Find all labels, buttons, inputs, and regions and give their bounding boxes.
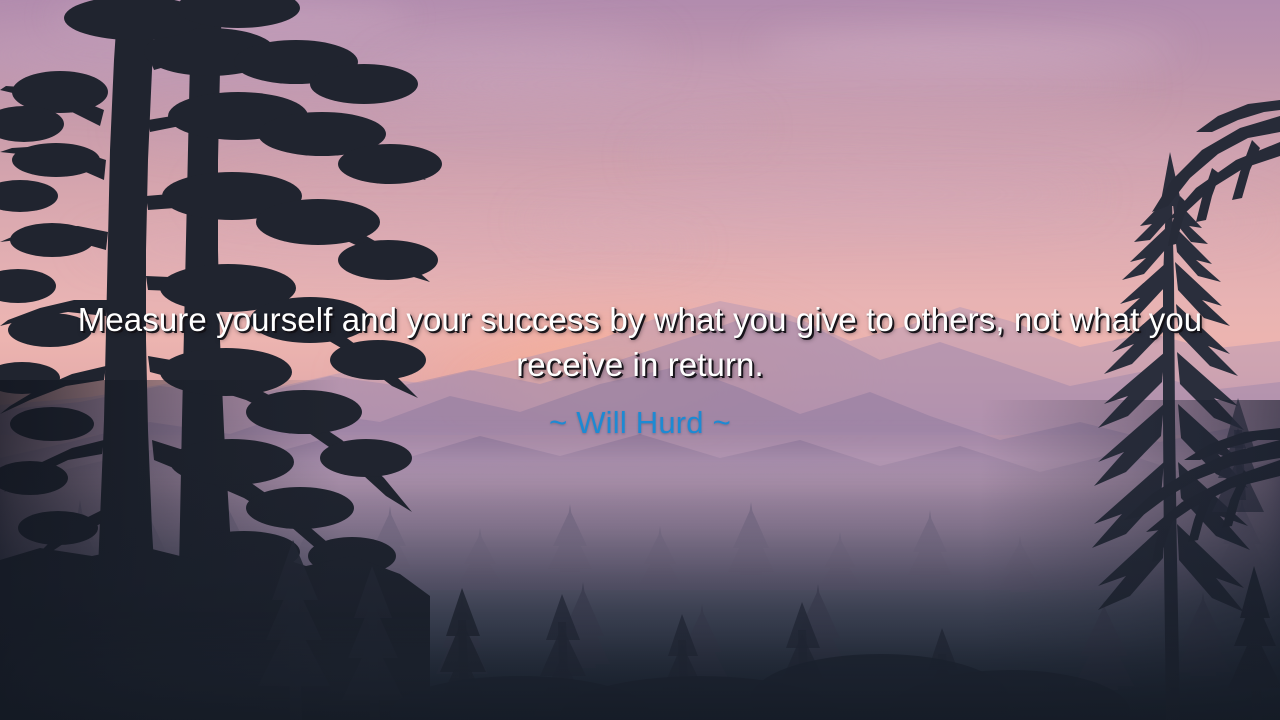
quote-author: ~ Will Hurd ~ [549, 404, 731, 442]
quote-wallpaper: Measure yourself and your success by wha… [0, 0, 1280, 720]
quote-text: Measure yourself and your success by wha… [60, 297, 1220, 387]
